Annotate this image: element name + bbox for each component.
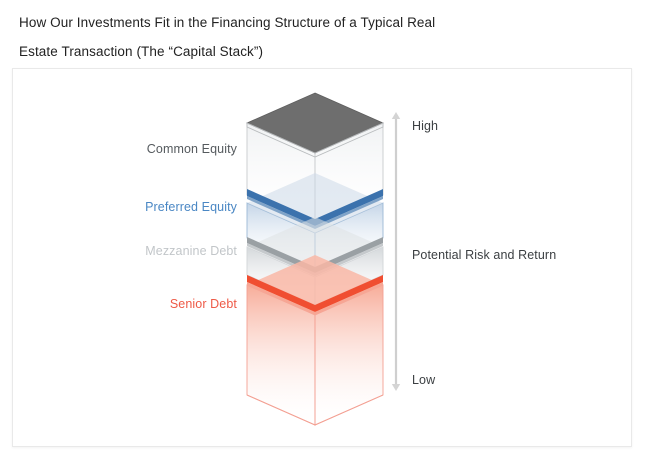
arrow-down-icon xyxy=(392,384,400,391)
label-senior-debt: Senior Debt xyxy=(170,297,237,311)
risk-return-axis-arrow xyxy=(392,112,400,391)
label-axis-low: Low xyxy=(412,373,435,387)
label-preferred-equity: Preferred Equity xyxy=(145,200,237,214)
label-mezzanine-debt: Mezzanine Debt xyxy=(145,244,237,258)
label-axis-high: High xyxy=(412,119,438,133)
capital-stack-diagram xyxy=(0,0,648,467)
layer-senior-debt xyxy=(247,255,383,425)
label-common-equity: Common Equity xyxy=(147,142,237,156)
arrow-up-icon xyxy=(392,112,400,119)
label-axis-title: Potential Risk and Return xyxy=(412,248,556,262)
